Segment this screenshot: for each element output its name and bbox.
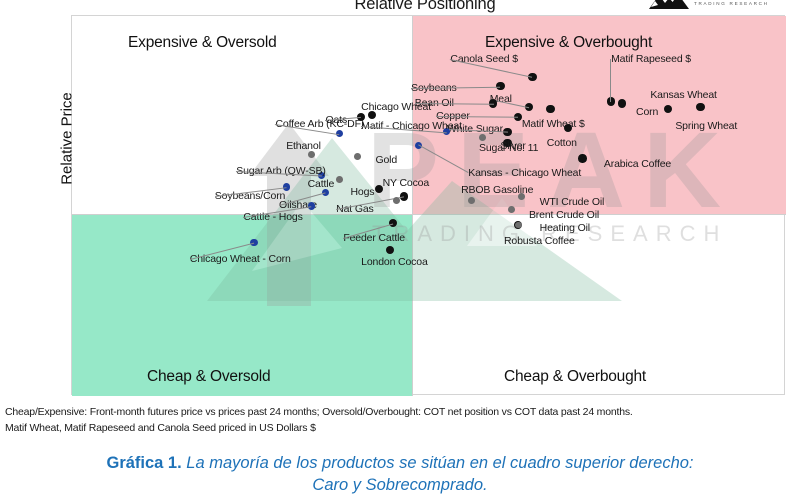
data-point[interactable] — [386, 246, 394, 254]
data-point-label: Coffee Arb (KC-DF) — [275, 119, 364, 130]
vertical-divider — [412, 16, 413, 396]
quadrant-label-expensive-overbought: Expensive & Overbought — [485, 34, 652, 52]
data-point-label: Ethanol — [286, 141, 321, 152]
caption-line-2: Caro y Sobrecomprado. — [312, 476, 487, 494]
y-axis-label: Relative Price — [59, 64, 76, 214]
quadrant-label-cheap-overbought: Cheap & Overbought — [504, 368, 646, 386]
data-point-label: Cattle — [308, 179, 335, 190]
data-point-label: Silver — [500, 141, 525, 152]
data-point[interactable] — [696, 103, 704, 111]
footnote-line-2: Matif Wheat, Matif Rapeseed and Canola S… — [5, 422, 316, 434]
data-point-label: Spring Wheat — [675, 121, 737, 132]
caption-line-1: La mayoría de los productos se sitúan en… — [182, 454, 694, 472]
data-point-label: Brent Crude Oil — [529, 210, 599, 221]
data-point-label: Gold — [375, 155, 397, 166]
peak-logo: PEAK TRADING RESEARCH — [648, 0, 788, 16]
data-point[interactable] — [546, 105, 554, 113]
data-point-label: Canola Seed $ — [450, 54, 518, 65]
data-point-label: Arabica Coffee — [604, 159, 671, 170]
data-point-label: Cotton — [547, 138, 577, 149]
data-point-label: Matif Rapeseed $ — [611, 54, 691, 65]
data-point-label: London Cocoa — [361, 257, 428, 268]
data-point[interactable] — [468, 197, 475, 204]
data-point[interactable] — [393, 197, 400, 204]
mountain-icon — [648, 0, 690, 10]
data-point[interactable] — [578, 154, 586, 162]
data-point-label: Corn — [636, 107, 658, 118]
data-point[interactable] — [336, 176, 343, 183]
data-point[interactable] — [508, 206, 515, 213]
data-point[interactable] — [607, 97, 615, 105]
data-point-label: Heating Oil — [540, 223, 590, 234]
data-point[interactable] — [479, 134, 486, 141]
data-point-label: Kansas Wheat — [650, 90, 717, 101]
slide-root: Relative Positioning PEAK TRADING RESEAR… — [0, 0, 800, 500]
label-leader-line — [610, 59, 611, 102]
data-point[interactable] — [308, 151, 315, 158]
data-point-label: NY Cocoa — [383, 178, 429, 189]
data-point-label: Kansas - Chicago Wheat — [468, 168, 581, 179]
figure-caption: Gráfica 1. La mayoría de los productos s… — [0, 452, 800, 497]
data-point[interactable] — [515, 222, 522, 229]
scatter-plot: PEAK TRADING RESEARCH Expensive & Overso… — [71, 15, 785, 395]
logo-tagline: TRADING RESEARCH — [694, 1, 769, 6]
footnote-line-1: Cheap/Expensive: Front-month futures pri… — [5, 406, 633, 418]
data-point-label: Hogs — [350, 187, 374, 198]
caption-prefix: Gráfica 1. — [106, 454, 181, 472]
data-point-label: WTI Crude Oil — [540, 197, 605, 208]
data-point-label: Robusta Coffee — [504, 236, 575, 247]
data-point[interactable] — [354, 153, 361, 160]
quadrant-label-cheap-oversold: Cheap & Oversold — [147, 368, 270, 386]
page-title: Relative Positioning — [250, 0, 600, 14]
quadrant-label-expensive-oversold: Expensive & Oversold — [128, 34, 277, 52]
data-point-label: Matif Wheat $ — [522, 119, 585, 130]
data-point[interactable] — [618, 99, 626, 107]
horizontal-divider — [72, 214, 786, 215]
data-point-label: Chicago Wheat — [361, 102, 431, 113]
